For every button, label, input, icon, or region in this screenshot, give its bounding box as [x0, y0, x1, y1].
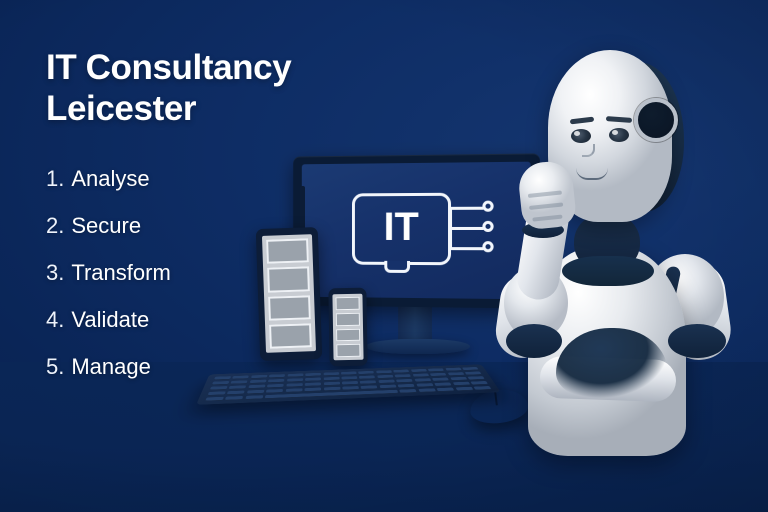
step-number: 2. — [46, 215, 64, 237]
robot-finger — [529, 202, 563, 210]
smartphone-device — [328, 288, 367, 367]
robot-collar — [562, 256, 654, 286]
step-label: Secure — [71, 215, 141, 237]
it-chip-icon: IT — [352, 193, 451, 276]
humanoid-robot — [470, 28, 768, 458]
robot-finger — [528, 190, 562, 198]
monitor-stand-neck — [398, 305, 432, 343]
step-label: Validate — [71, 309, 149, 331]
step-label: Transform — [71, 262, 170, 284]
step-number: 1. — [46, 168, 64, 190]
step-number: 4. — [46, 309, 64, 331]
step-label: Manage — [71, 356, 151, 378]
list-item: 2. Secure — [46, 215, 306, 237]
phone-content-bar — [335, 297, 359, 310]
robot-finger — [532, 215, 562, 222]
list-item: 4. Validate — [46, 309, 306, 331]
phone-content-bar — [336, 344, 360, 357]
step-label: Analyse — [71, 168, 149, 190]
list-item: 1. Analyse — [46, 168, 306, 190]
process-step-list: 1. Analyse 2. Secure 3. Transform 4. Val… — [46, 168, 306, 403]
step-number: 3. — [46, 262, 64, 284]
chip-label: IT — [352, 207, 451, 247]
phone-content-bar — [336, 328, 360, 341]
list-item: 5. Manage — [46, 356, 306, 378]
robot-right-eye — [609, 128, 629, 142]
robot-right-elbow-joint — [668, 324, 726, 358]
monitor-stand-base — [366, 339, 470, 354]
promo-banner: IT — [0, 0, 768, 512]
phone-screen — [332, 294, 363, 361]
chip-notch — [384, 261, 410, 273]
list-item: 3. Transform — [46, 262, 306, 284]
step-number: 5. — [46, 356, 64, 378]
robot-left-eye — [571, 129, 591, 143]
phone-content-bar — [336, 313, 360, 326]
robot-ear-port-icon — [634, 98, 678, 142]
page-title: IT Consultancy Leicester — [46, 48, 426, 129]
robot-left-elbow-joint — [506, 324, 562, 358]
